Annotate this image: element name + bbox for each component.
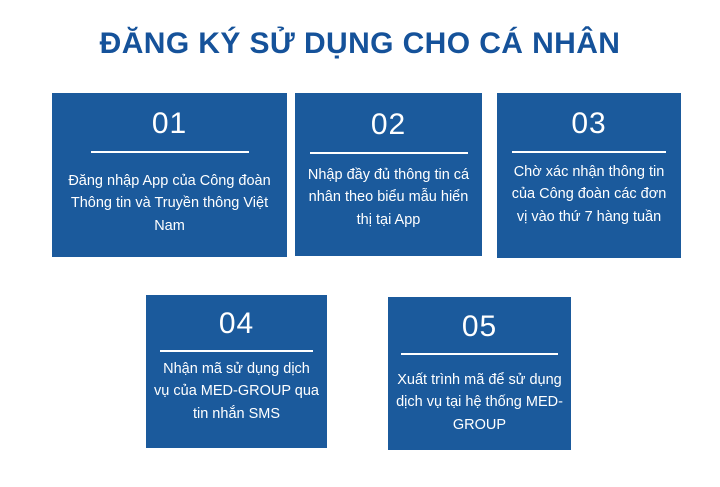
step-number-05: 05	[462, 312, 497, 342]
step-card-02: 02 Nhập đầy đủ thông tin cá nhân theo bi…	[295, 93, 482, 256]
step-divider-04	[160, 350, 313, 352]
step-card-01: 01 Đăng nhập App của Công đoàn Thông tin…	[52, 93, 287, 257]
step-text-01: Đăng nhập App của Công đoàn Thông tin và…	[52, 170, 287, 237]
step-number-04: 04	[219, 309, 254, 339]
step-number-03: 03	[571, 109, 606, 139]
step-text-05: Xuất trình mã để sử dụng dịch vụ tại hệ …	[388, 369, 571, 436]
step-text-04: Nhận mã sử dụng dịch vụ của MED-GROUP qu…	[146, 358, 327, 425]
page-title: ĐĂNG KÝ SỬ DỤNG CHO CÁ NHÂN	[0, 26, 720, 62]
step-divider-02	[310, 152, 468, 154]
step-card-04: 04 Nhận mã sử dụng dịch vụ của MED-GROUP…	[146, 295, 327, 448]
step-text-02: Nhập đầy đủ thông tin cá nhân theo biểu …	[295, 164, 482, 231]
step-number-01: 01	[152, 109, 187, 139]
infographic-root: ĐĂNG KÝ SỬ DỤNG CHO CÁ NHÂN 01 Đăng nhập…	[0, 0, 720, 487]
step-card-03: 03 Chờ xác nhận thông tin của Công đoàn …	[497, 93, 681, 258]
step-card-05: 05 Xuất trình mã để sử dụng dịch vụ tại …	[388, 297, 571, 450]
step-number-02: 02	[371, 110, 406, 140]
step-text-03: Chờ xác nhận thông tin của Công đoàn các…	[497, 161, 681, 228]
step-divider-01	[91, 151, 249, 153]
step-divider-05	[401, 353, 558, 355]
step-divider-03	[512, 151, 666, 153]
